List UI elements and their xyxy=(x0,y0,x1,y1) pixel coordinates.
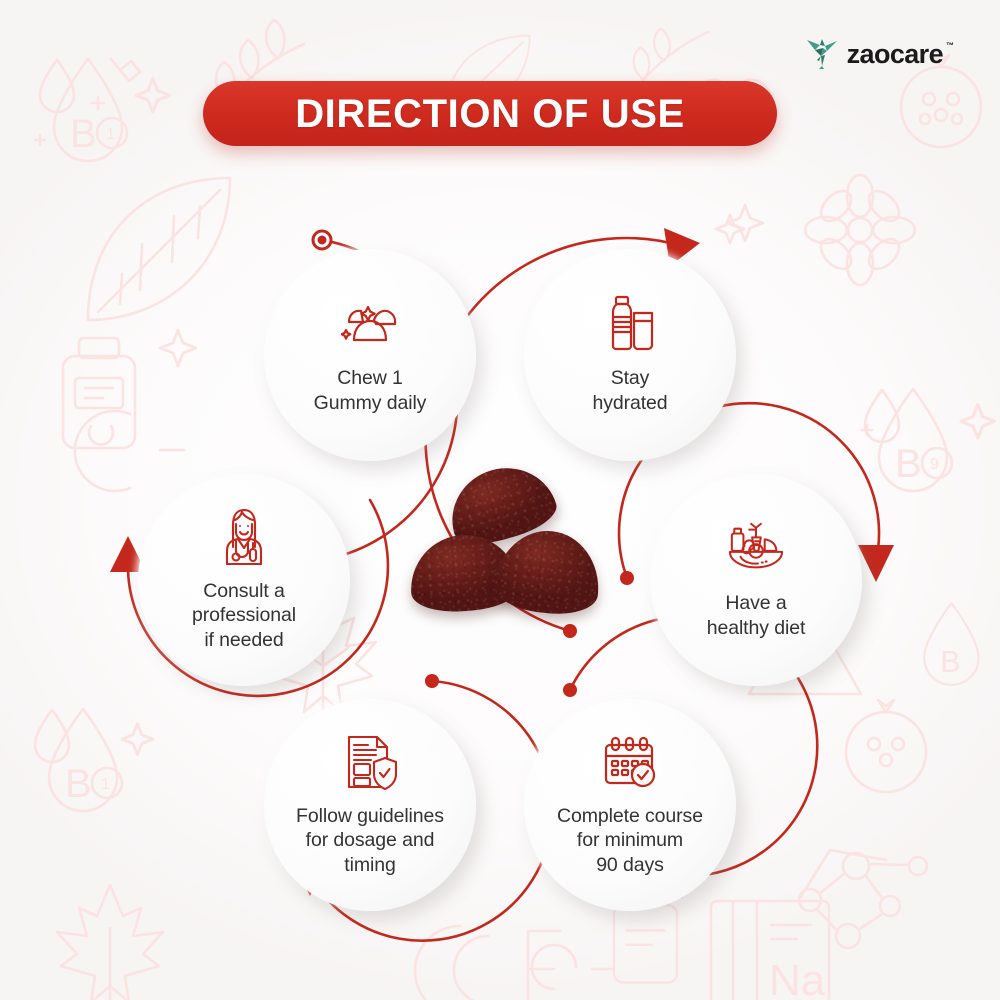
doctor-stethoscope-icon xyxy=(215,508,273,566)
step-card-healthy-diet[interactable]: Have a healthy diet xyxy=(650,474,862,686)
gummy-cluster xyxy=(400,465,600,625)
step-label-healthy-diet: Have a healthy diet xyxy=(699,591,814,639)
document-shield-check-icon xyxy=(341,733,399,791)
page-title: DIRECTION OF USE xyxy=(295,94,685,134)
step-card-complete-course[interactable]: Complete course for minimum 90 days xyxy=(524,699,736,911)
hummingbird-icon xyxy=(806,38,840,70)
page-title-banner: DIRECTION OF USE xyxy=(203,81,777,146)
gummy-bottom-right xyxy=(492,526,604,618)
gummies-icon xyxy=(341,295,399,353)
step-card-follow-guidelines[interactable]: Follow guidelines for dosage and timing xyxy=(264,699,476,911)
calendar-check-icon xyxy=(601,733,659,791)
step-label-stay-hydrated: Stay hydrated xyxy=(584,366,675,414)
step-label-chew-gummy-daily: Chew 1 Gummy daily xyxy=(306,366,435,414)
step-label-complete-course: Complete course for minimum 90 days xyxy=(549,804,711,877)
step-card-consult-professional[interactable]: Consult a professional if needed xyxy=(138,474,350,686)
salad-bowl-icon xyxy=(727,520,785,578)
trademark-symbol: ™ xyxy=(946,41,954,50)
infographic-canvas: B 1 B 9 B xyxy=(0,0,1000,1000)
brand-logo[interactable]: zaocare ™ xyxy=(806,38,954,70)
step-label-follow-guidelines: Follow guidelines for dosage and timing xyxy=(288,804,452,877)
step-card-chew-gummy-daily[interactable]: Chew 1 Gummy daily xyxy=(264,249,476,461)
brand-name: zaocare xyxy=(847,41,943,68)
step-card-stay-hydrated[interactable]: Stay hydrated xyxy=(524,249,736,461)
water-bottle-glass-icon xyxy=(601,295,659,353)
step-label-consult-professional: Consult a professional if needed xyxy=(184,579,304,652)
